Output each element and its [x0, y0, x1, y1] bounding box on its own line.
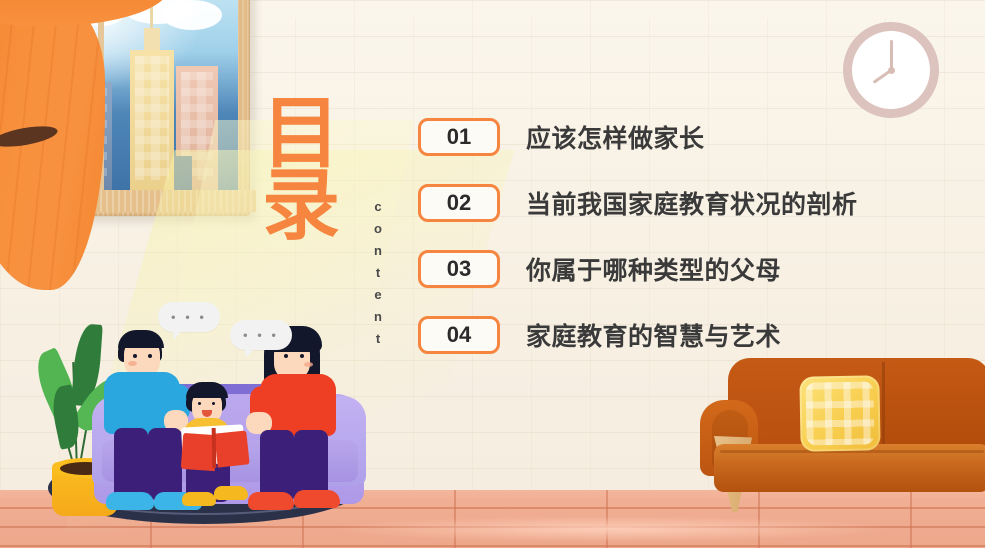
child-shoe	[182, 492, 216, 506]
mother-eye	[284, 354, 288, 358]
toc-item-04[interactable]: 04家庭教育的智慧与艺术	[418, 302, 918, 368]
title-en-letter-6: t	[366, 328, 390, 350]
mother-blush	[304, 362, 313, 367]
clock-minute-hand	[890, 40, 893, 70]
father-eye	[133, 354, 137, 358]
sofa-backrest-right	[880, 360, 985, 448]
speech-bubble-dots: • • •	[230, 329, 292, 342]
speech-bubble: • • •	[158, 302, 220, 332]
toc-number-badge[interactable]: 03	[418, 250, 500, 288]
sofa-seam	[882, 362, 885, 448]
toc-item-03[interactable]: 03你属于哪种类型的父母	[418, 236, 918, 302]
tower-top-icon	[144, 28, 160, 50]
page-title-english-vertical: content	[366, 196, 390, 350]
father-eye	[148, 354, 152, 358]
cloud-icon	[162, 0, 222, 30]
building-tower-icon	[130, 50, 174, 190]
page-title-char-1: 目	[262, 98, 358, 170]
mother-shoe	[248, 492, 294, 510]
father-leg	[148, 428, 182, 500]
father-shoe	[106, 492, 154, 510]
family-illustration: • • • • • •	[78, 300, 378, 548]
child-hair-top	[186, 382, 228, 398]
book-spine	[212, 428, 217, 468]
plaid-cushion	[799, 375, 880, 451]
clock-pivot	[888, 67, 895, 74]
child-shoe	[214, 486, 248, 500]
child-eye	[198, 402, 201, 405]
toc-item-label[interactable]: 家庭教育的智慧与艺术	[526, 317, 781, 353]
toc-item-02[interactable]: 02当前我国家庭教育状况的剖析	[418, 170, 918, 236]
title-en-letter-0: c	[366, 196, 390, 218]
right-sofa	[690, 358, 985, 503]
child-eye	[212, 402, 215, 405]
book-cover-right	[214, 430, 249, 467]
mother-eye	[300, 354, 304, 358]
title-en-letter-2: n	[366, 240, 390, 262]
toc-number-badge[interactable]: 04	[418, 316, 500, 354]
building-icon	[174, 156, 192, 190]
slide-canvas: • • • • • • 目 录 content 01应该怎样做家长02当前我国家…	[0, 0, 985, 548]
speech-bubble: • • •	[230, 320, 292, 350]
mother-shoe	[294, 490, 340, 508]
title-en-letter-5: n	[366, 306, 390, 328]
page-title: 目 录	[262, 98, 358, 242]
floor-sheen	[330, 516, 890, 542]
toc-item-label[interactable]: 应该怎样做家长	[526, 119, 705, 155]
father-hair-top	[118, 330, 164, 348]
page-title-char-2: 录	[262, 170, 358, 242]
title-en-letter-4: e	[366, 284, 390, 306]
title-en-letter-1: o	[366, 218, 390, 240]
speech-bubble-dots: • • •	[158, 311, 220, 324]
toc-number-badge[interactable]: 02	[418, 184, 500, 222]
father-leg	[114, 428, 148, 500]
toc-number-badge[interactable]: 01	[418, 118, 500, 156]
title-en-letter-3: t	[366, 262, 390, 284]
toc-item-label[interactable]: 当前我国家庭教育状况的剖析	[526, 185, 858, 221]
toc-item-01[interactable]: 01应该怎样做家长	[418, 104, 918, 170]
cushion-plaid-pattern	[805, 381, 874, 445]
father-blush	[128, 361, 137, 366]
toc-item-label[interactable]: 你属于哪种类型的父母	[526, 251, 781, 287]
table-of-contents: 01应该怎样做家长02当前我国家庭教育状况的剖析03你属于哪种类型的父母04家庭…	[418, 104, 918, 368]
